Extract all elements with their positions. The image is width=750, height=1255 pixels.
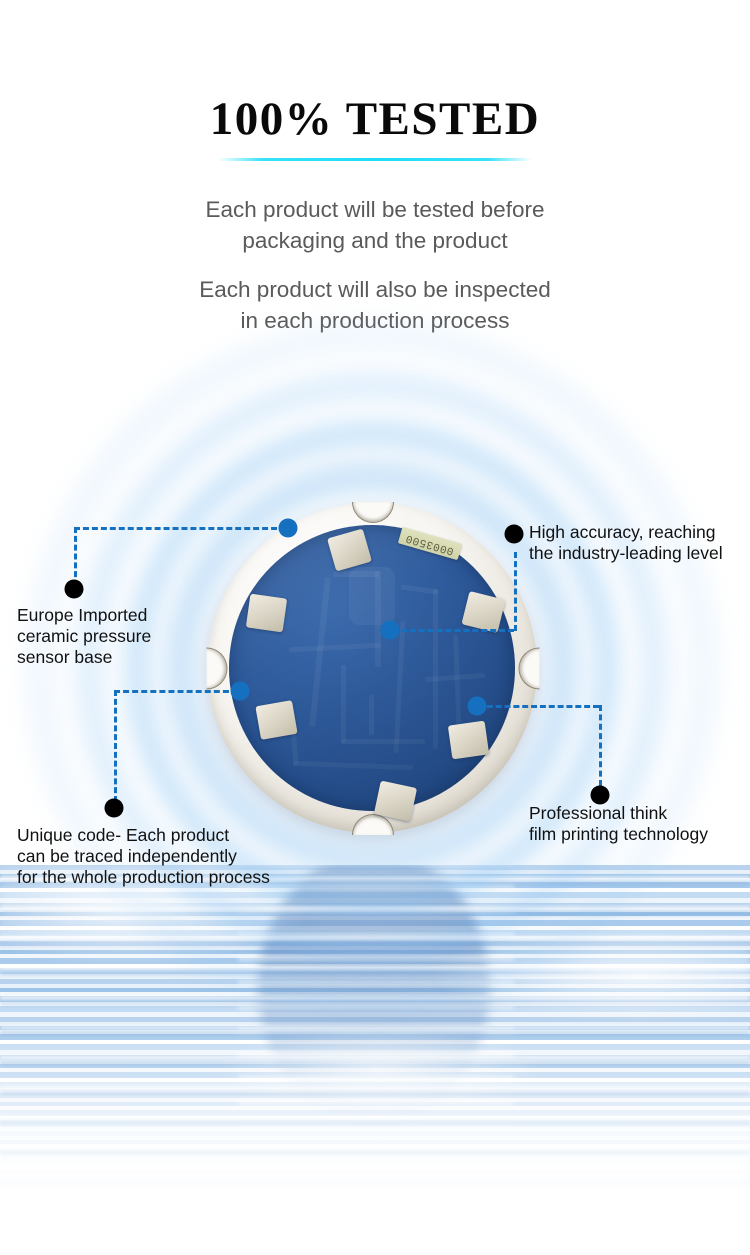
subtitle-line: Each product will also be inspected [0, 274, 750, 305]
callout-label-unique-code: Unique code- Each product can be traced … [17, 825, 270, 888]
callout-line-vertical [114, 690, 117, 802]
callout-label-think-film-printing: Professional think film printing technol… [529, 803, 708, 845]
callout-line-horizontal [392, 629, 514, 632]
callout-marker-dot [105, 799, 124, 818]
callout-marker-dot [505, 525, 524, 544]
callout-line: Professional think [529, 803, 708, 824]
solder-pad [246, 594, 287, 633]
ceramic-pressure-sensor-image: 0003500 [207, 503, 537, 833]
callout-anchor-dot [231, 682, 250, 701]
callout-anchor-dot [381, 621, 400, 640]
callout-line: for the whole production process [17, 867, 270, 888]
callout-line: High accuracy, reaching [529, 522, 723, 543]
diaphragm-shading [229, 525, 515, 811]
callout-line-horizontal [74, 527, 286, 530]
callout-line: sensor base [17, 647, 151, 668]
callout-line: can be traced independently [17, 846, 270, 867]
header: 100% TESTED [0, 0, 750, 144]
page-title: 100% TESTED [0, 0, 750, 144]
callout-line: Europe Imported [17, 605, 151, 626]
infographic-page: 100% TESTED Each product will be tested … [0, 0, 750, 1255]
water-bottom-fade [0, 1055, 750, 1255]
callout-anchor-dot [468, 697, 487, 716]
callout-anchor-dot [279, 519, 298, 538]
callout-line: Unique code- Each product [17, 825, 270, 846]
callout-line: the industry-leading level [529, 543, 723, 564]
callout-line: ceramic pressure [17, 626, 151, 647]
subtitle-line: packaging and the product [0, 225, 750, 256]
solder-pad [255, 700, 297, 740]
callout-marker-dot [65, 580, 84, 599]
subtitle-paragraph-2: Each product will also be inspected in e… [0, 274, 750, 336]
callout-label-europe-imported: Europe Imported ceramic pressure sensor … [17, 605, 151, 668]
callout-marker-dot [591, 786, 610, 805]
callout-line-vertical [514, 552, 517, 631]
callout-line-horizontal [478, 705, 599, 708]
blue-sensor-diaphragm [229, 525, 515, 811]
callout-line-vertical [599, 705, 602, 786]
solder-pad [448, 721, 489, 760]
solder-pad [374, 781, 417, 822]
callout-line: film printing technology [529, 824, 708, 845]
callout-line-horizontal [114, 690, 238, 693]
subtitle-line: Each product will be tested before [0, 194, 750, 225]
callout-label-high-accuracy: High accuracy, reaching the industry-lea… [529, 522, 723, 564]
callout-line-vertical [74, 527, 77, 586]
title-underline [218, 158, 532, 161]
subtitle-paragraph-1: Each product will be tested before packa… [0, 194, 750, 256]
